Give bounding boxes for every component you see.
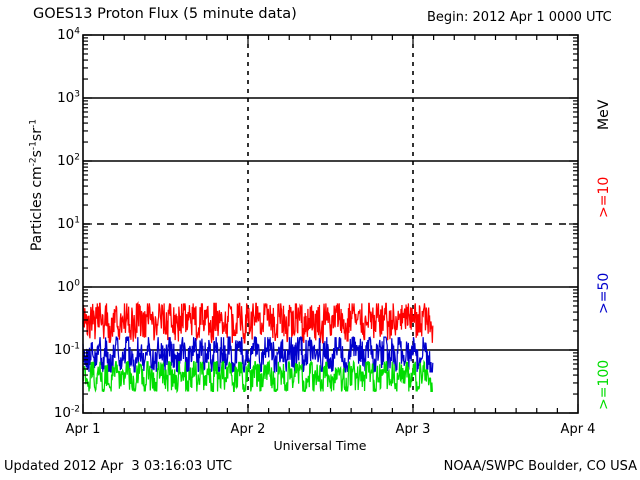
updated-timestamp: Updated 2012 Apr 3 03:16:03 UTC (4, 460, 232, 473)
plot-canvas (0, 0, 640, 480)
legend-item-gege10: >=10 (596, 178, 612, 218)
x-axis-label: Universal Time (0, 440, 640, 453)
x-tick-label-apr-3: Apr 3 (396, 422, 431, 437)
legend: MeV>=10>=50>=100 (596, 90, 636, 420)
x-tick-label-apr-4: Apr 4 (561, 422, 596, 437)
x-tick-label-apr-1: Apr 1 (66, 422, 101, 437)
source-credit: NOAA/SWPC Boulder, CO USA (444, 460, 637, 473)
proton-flux-plot-page: GOES13 Proton Flux (5 minute data) Begin… (0, 0, 640, 480)
series-gege10 (83, 303, 433, 342)
legend-item-gege50: >=50 (596, 274, 612, 314)
x-tick-label-apr-2: Apr 2 (231, 422, 266, 437)
legend-item-gege100: >=100 (596, 370, 612, 410)
legend-item-mev: MeV (596, 90, 612, 130)
